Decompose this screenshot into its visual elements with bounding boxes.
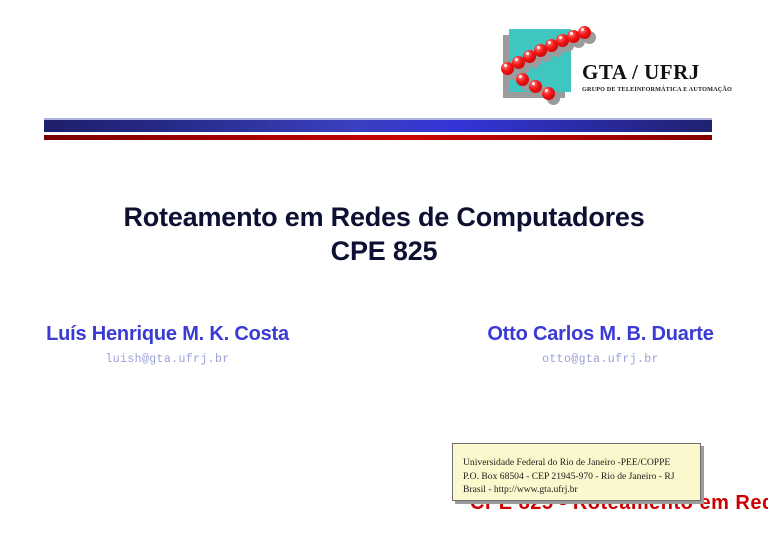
red-divider-bar <box>44 135 712 140</box>
blue-divider-bar <box>44 118 712 132</box>
author-name: Luís Henrique M. K. Costa <box>0 322 335 347</box>
address-callout-box: Universidade Federal do Rio de Janeiro -… <box>452 443 701 501</box>
title-line-2: CPE 825 <box>0 234 768 268</box>
address-line: P.O. Box 68504 - CEP 21945-970 - Rio de … <box>463 470 690 484</box>
author-name: Otto Carlos M. B. Duarte <box>433 322 768 347</box>
logo-sphere-icon <box>542 87 555 100</box>
title-line-1: Roteamento em Redes de Computadores <box>0 200 768 234</box>
gta-ufrj-logo: GTA / UFRJ GRUPO DE TELEINFORMÁTICA E AU… <box>498 26 718 110</box>
address-line: Brasil - http://www.gta.ufrj.br <box>463 483 690 497</box>
logo-sphere-icon <box>578 26 591 39</box>
logo-sphere-icon <box>516 73 529 86</box>
author-list: Luís Henrique M. K. Costa luish@gta.ufrj… <box>0 322 768 366</box>
author-entry-1: Luís Henrique M. K. Costa luish@gta.ufrj… <box>0 322 387 366</box>
logo-subtitle-text: GRUPO DE TELEINFORMÁTICA E AUTOMAÇÃO <box>582 86 720 93</box>
logo-sphere-icon <box>529 80 542 93</box>
author-entry-2: Otto Carlos M. B. Duarte otto@gta.ufrj.b… <box>387 322 768 366</box>
logo-graphic-mark <box>498 26 580 108</box>
author-email[interactable]: luish@gta.ufrj.br <box>0 353 335 366</box>
logo-title-text: GTA / UFRJ <box>582 62 720 83</box>
presentation-title-slide: GTA / UFRJ GRUPO DE TELEINFORMÁTICA E AU… <box>0 0 768 542</box>
page-title: Roteamento em Redes de Computadores CPE … <box>0 200 768 268</box>
logo-wordmark: GTA / UFRJ GRUPO DE TELEINFORMÁTICA E AU… <box>582 62 720 93</box>
address-line: Universidade Federal do Rio de Janeiro -… <box>463 456 690 470</box>
author-email[interactable]: otto@gta.ufrj.br <box>433 353 768 366</box>
